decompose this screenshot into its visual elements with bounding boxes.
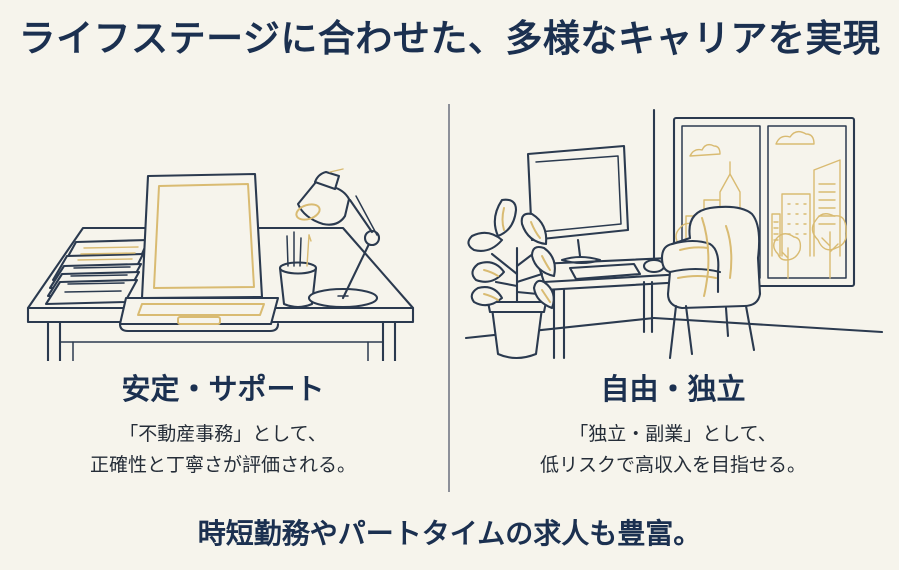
column-description-freedom: 「独立・副業」として、 低リスクで高収入を目指せる。: [458, 419, 888, 481]
home-office-window-armchair-illustration: [458, 96, 888, 361]
column-divider: [448, 104, 450, 492]
description-line-1: 「独立・副業」として、: [458, 419, 888, 450]
column-freedom-independence: 自由・独立 「独立・副業」として、 低リスクで高収入を目指せる。: [458, 96, 888, 506]
description-line-2: 正確性と丁寧さが評価される。: [8, 450, 438, 481]
paper-stack-shape: [46, 240, 148, 304]
office-desk-laptop-lamp-illustration: [8, 96, 438, 361]
page-title: ライフステージに合わせた、多様なキャリアを実現: [0, 14, 899, 64]
monitor-shape: [528, 146, 628, 263]
column-heading-freedom: 自由・独立: [458, 373, 888, 407]
slide-canvas: ライフステージに合わせた、多様なキャリアを実現: [0, 0, 899, 570]
description-line-2: 低リスクで高収入を目指せる。: [458, 450, 888, 481]
column-description-stability: 「不動産事務」として、 正確性と丁寧さが評価される。: [8, 419, 438, 481]
description-line-1: 「不動産事務」として、: [8, 419, 438, 450]
footer-note: 時短勤務やパートタイムの求人も豊富。: [0, 514, 899, 554]
column-heading-stability: 安定・サポート: [8, 373, 438, 407]
column-stability-support: 安定・サポート 「不動産事務」として、 正確性と丁寧さが評価される。: [8, 96, 438, 506]
laptop-shape: [120, 174, 278, 331]
